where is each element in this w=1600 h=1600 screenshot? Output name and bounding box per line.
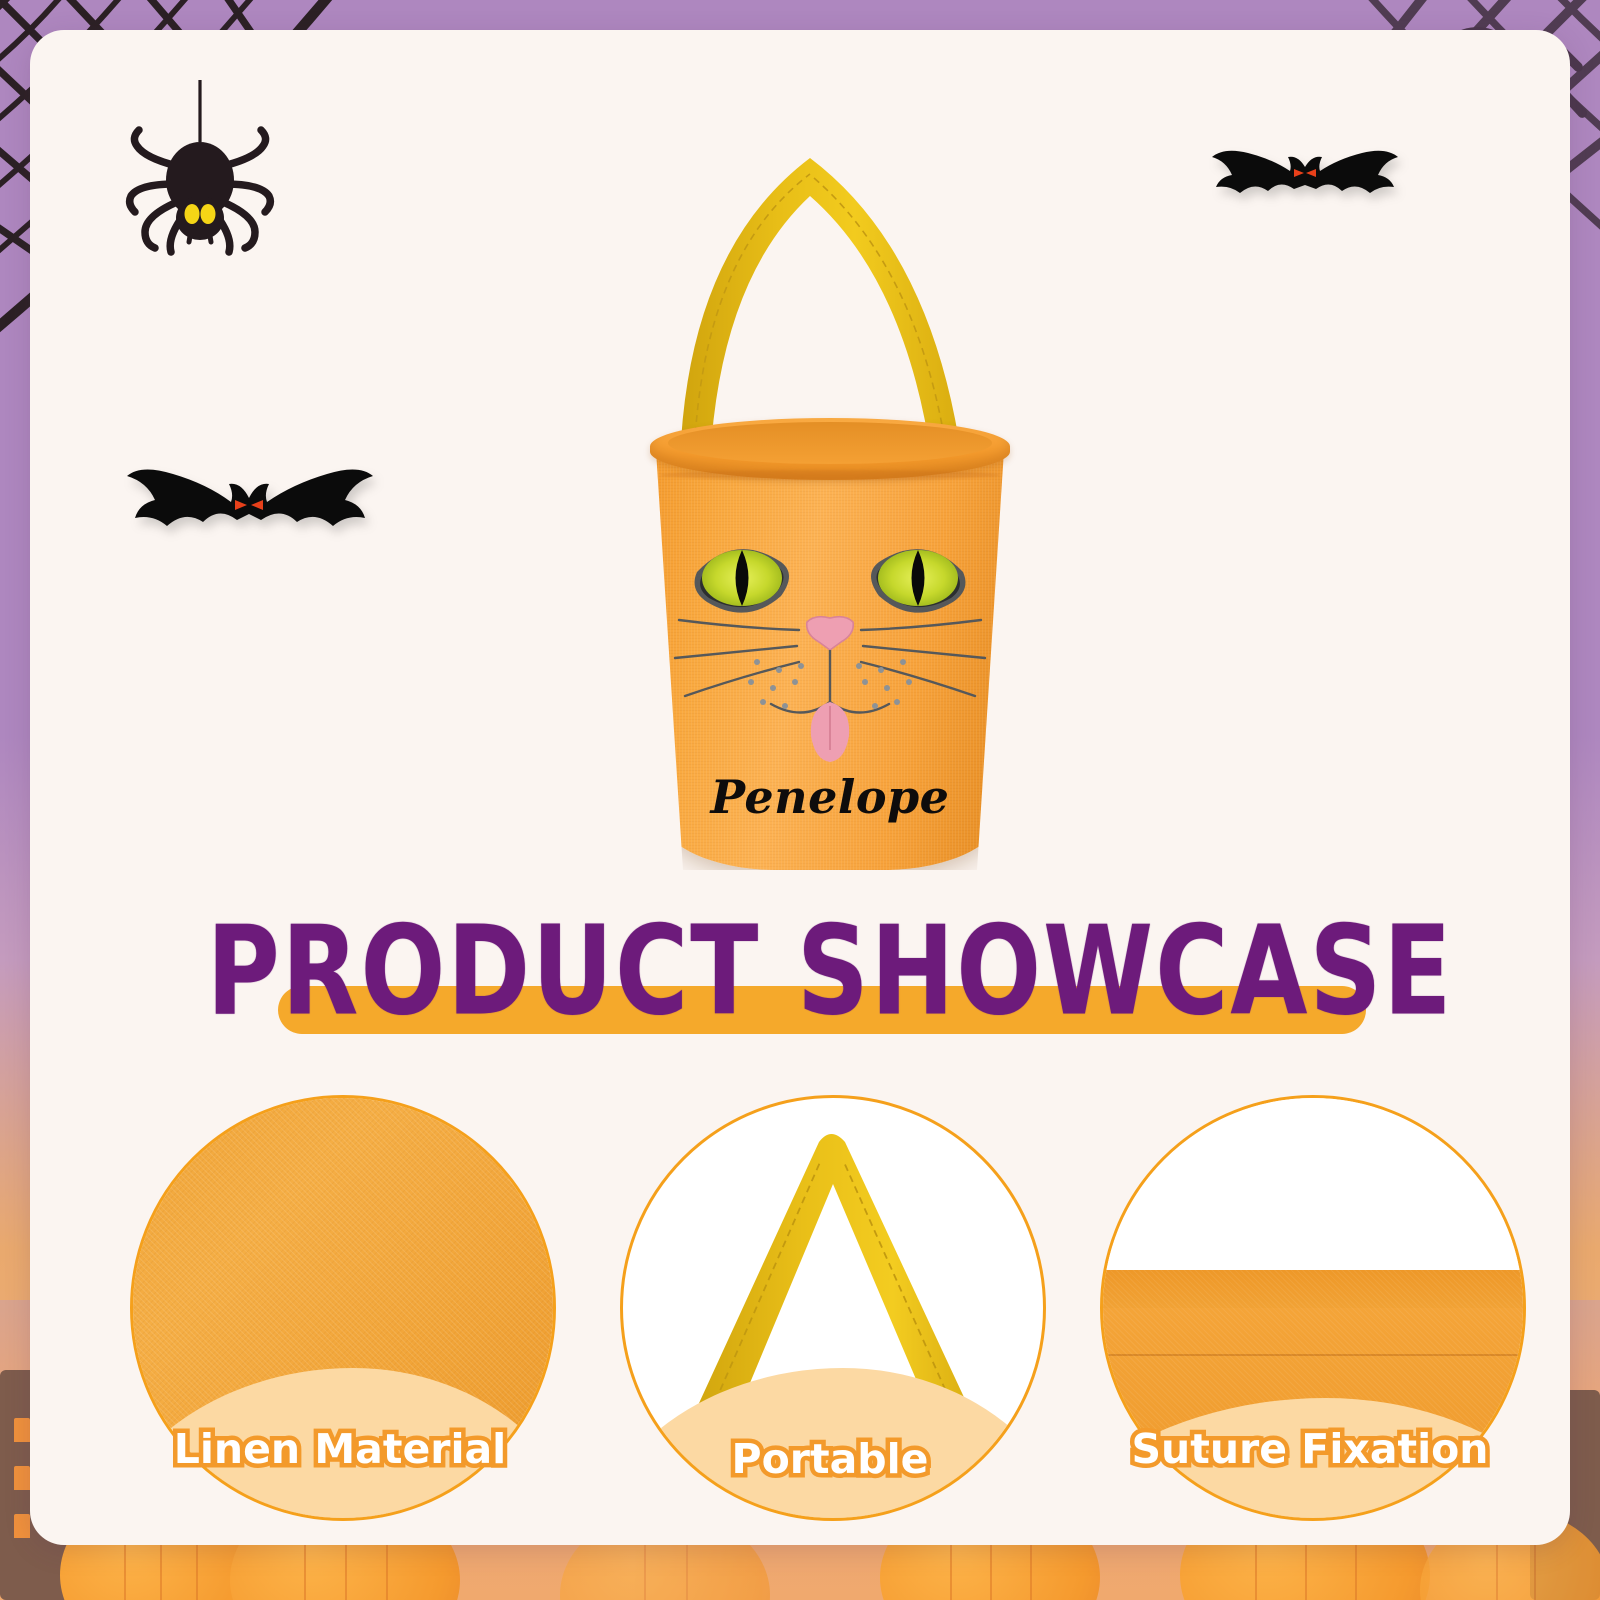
bat-icon: [1210, 125, 1400, 255]
page-title: PRODUCT SHOWCASE: [62, 900, 1570, 1042]
feature-card-suture-fixation[interactable]: Suture Fixation: [1100, 1095, 1520, 1515]
cat-eye-left: [695, 549, 789, 613]
bag-rim-seam: [660, 470, 1000, 480]
spider-icon: [115, 80, 285, 280]
bat-icon: [125, 440, 375, 600]
showcase-canvas: Penelope PRODUCT SHOWCASE Linen Material: [0, 0, 1600, 1600]
bag-rim-inner: [668, 422, 992, 464]
feature-row: Linen Material: [30, 1085, 1570, 1545]
feature-card-linen-material[interactable]: Linen Material: [130, 1095, 550, 1515]
feature-card-portable[interactable]: Portable: [620, 1095, 1040, 1515]
cat-nose-icon: [807, 617, 854, 650]
feature-label: Portable: [560, 1435, 1100, 1483]
personalized-name: Penelope: [610, 770, 1050, 824]
cat-eye-right: [871, 549, 965, 613]
product-hero-image: Penelope: [610, 130, 1050, 890]
feature-label: Linen Material: [70, 1425, 610, 1473]
feature-label: Suture Fixation: [1040, 1425, 1570, 1473]
section-title: PRODUCT SHOWCASE: [30, 900, 1570, 1050]
content-card: Penelope PRODUCT SHOWCASE Linen Material: [30, 30, 1570, 1545]
